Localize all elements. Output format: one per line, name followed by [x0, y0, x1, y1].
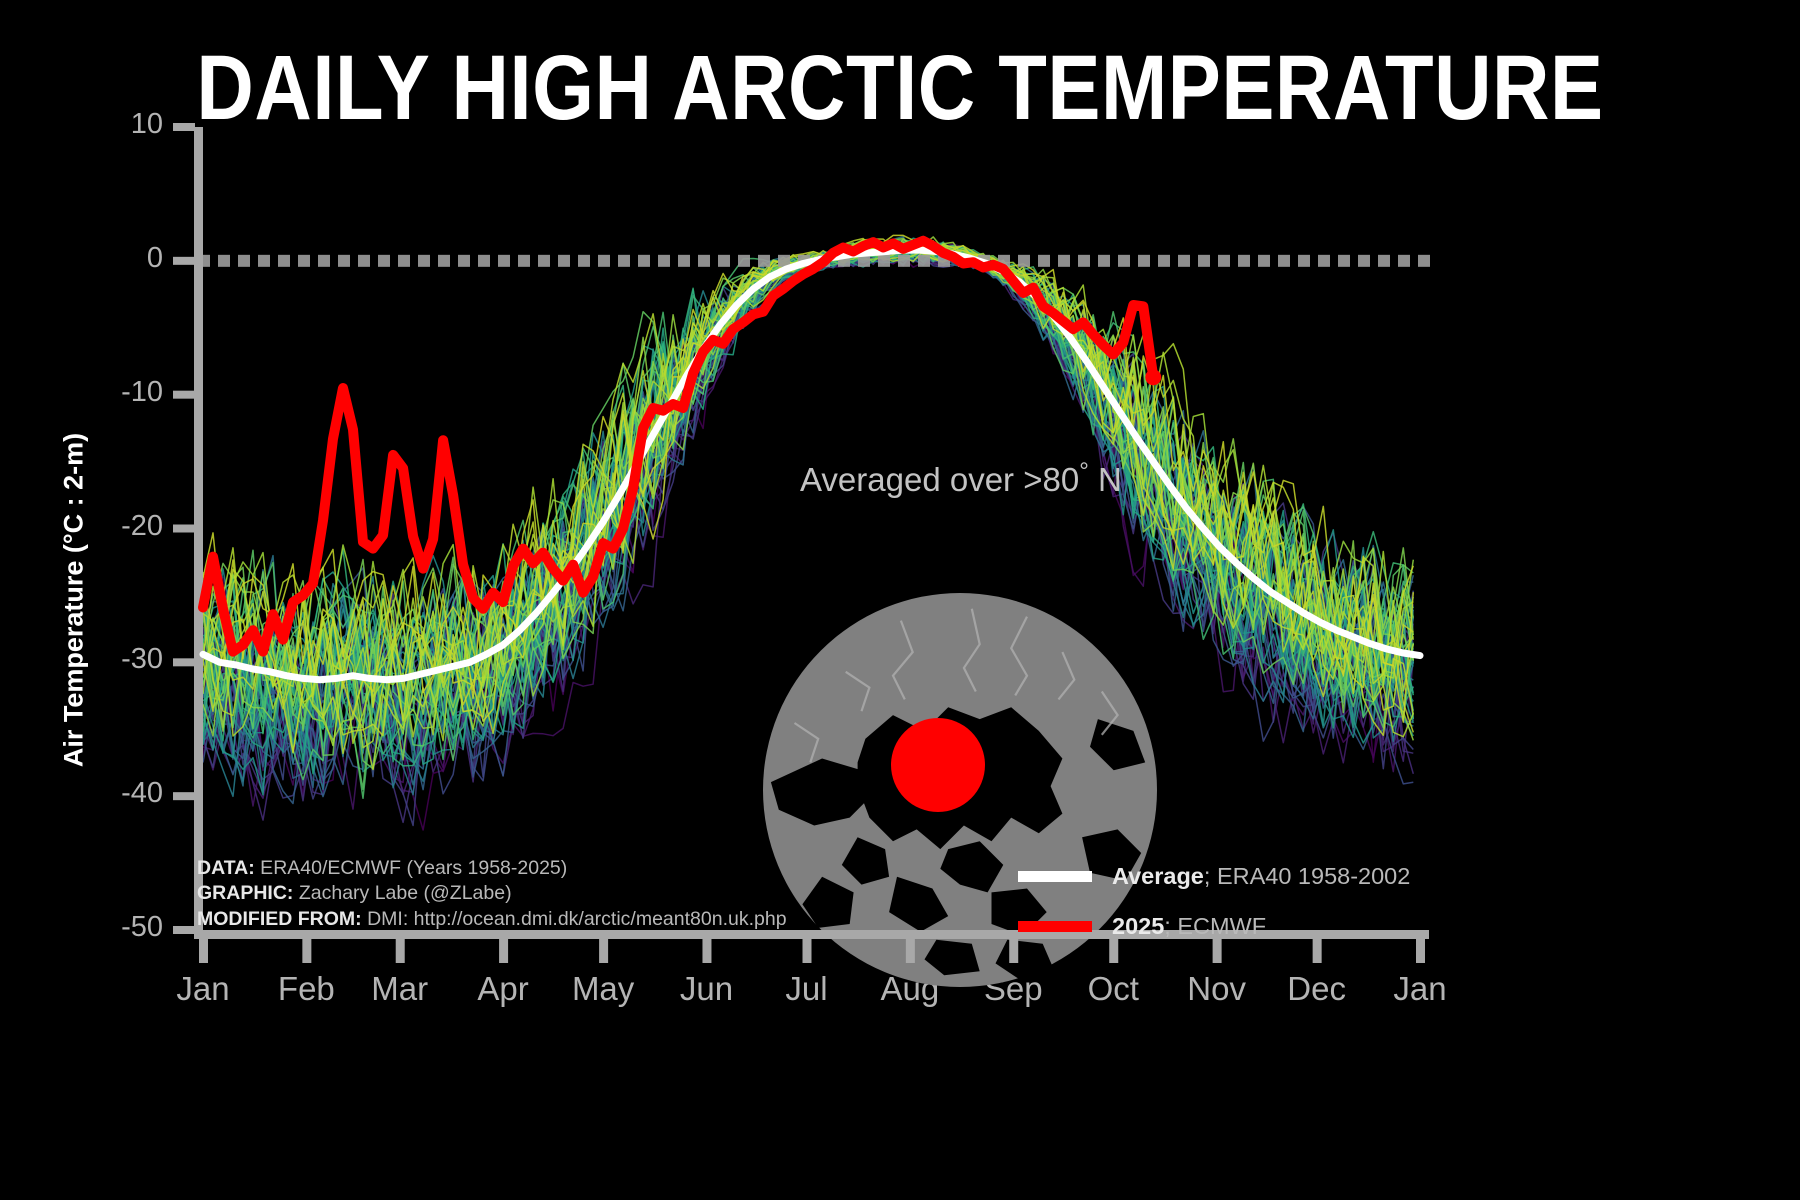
- region-annotation-suffix: N: [1089, 461, 1122, 498]
- series-2025-endpoint: [1145, 369, 1161, 385]
- region-annotation-text: Averaged over >80: [800, 461, 1079, 498]
- legend-2025-swatch: [1018, 921, 1092, 932]
- region-annotation: Averaged over >80° N: [800, 458, 1122, 499]
- legend: Average; ERA40 1958-20022025; ECMWF: [1018, 858, 1410, 958]
- legend-2025-label: 2025; ECMWF: [1112, 913, 1266, 940]
- credits-modified-line: MODIFIED FROM: DMI: http://ocean.dmi.dk/…: [197, 907, 787, 932]
- map-highlight-region: [891, 718, 985, 812]
- credits-data-key: DATA:: [197, 857, 255, 879]
- legend-2025[interactable]: 2025; ECMWF: [1018, 908, 1410, 944]
- credits-graphic-value: Zachary Labe (@ZLabe): [293, 882, 511, 904]
- legend-average-swatch: [1018, 871, 1092, 882]
- legend-average-label: Average; ERA40 1958-2002: [1112, 863, 1410, 890]
- plot-area: [0, 0, 1800, 1200]
- chart-figure: DAILY HIGH ARCTIC TEMPERATURE Air Temper…: [0, 0, 1800, 1200]
- credits-graphic-key: GRAPHIC:: [197, 882, 293, 904]
- credits-data-value: ERA40/ECMWF (Years 1958-2025): [255, 857, 568, 879]
- credits-block: DATA: ERA40/ECMWF (Years 1958-2025) GRAP…: [197, 856, 787, 932]
- credits-data-line: DATA: ERA40/ECMWF (Years 1958-2025): [197, 856, 787, 881]
- credits-modified-key: MODIFIED FROM:: [197, 908, 362, 930]
- credits-graphic-line: GRAPHIC: Zachary Labe (@ZLabe): [197, 881, 787, 906]
- legend-average[interactable]: Average; ERA40 1958-2002: [1018, 858, 1410, 894]
- degree-symbol: °: [1079, 458, 1089, 485]
- credits-modified-value: DMI: http://ocean.dmi.dk/arctic/meant80n…: [362, 908, 787, 930]
